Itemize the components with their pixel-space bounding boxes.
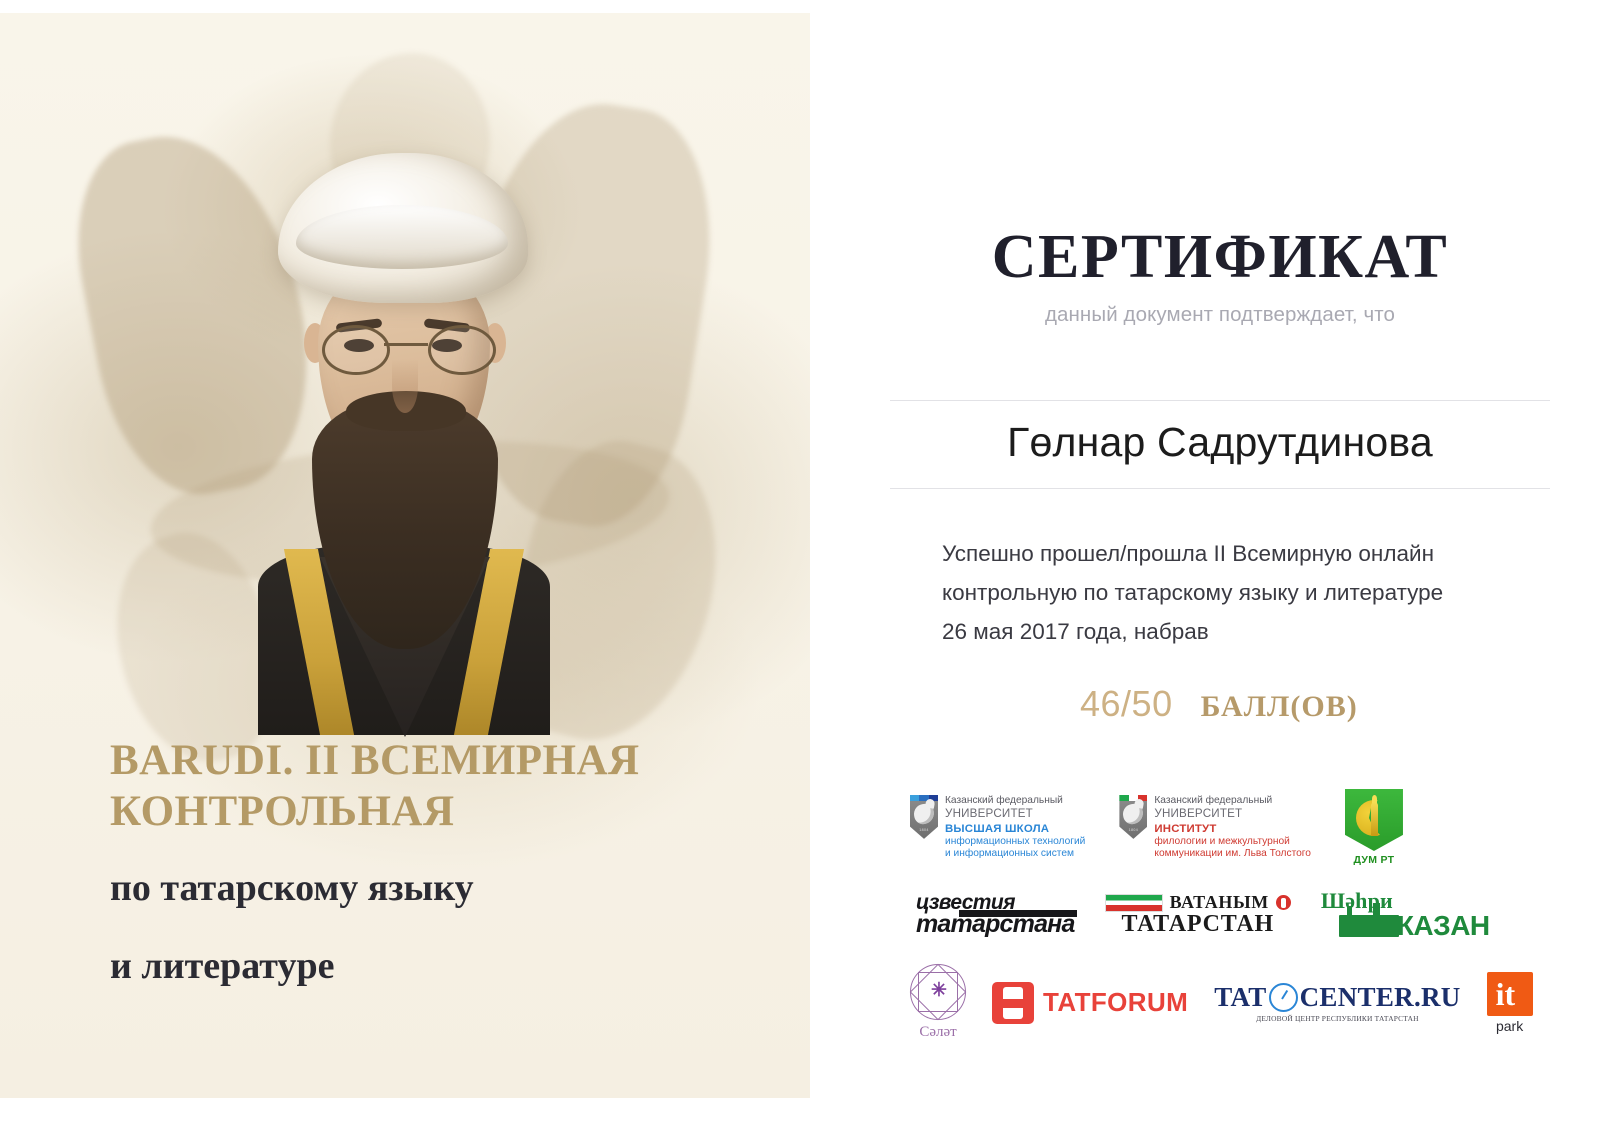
- recipient-name: Гөлнар Садрутдинова: [890, 419, 1550, 466]
- tatforum-mark-icon: [992, 982, 1034, 1024]
- recipient-name-box: Гөлнар Садрутдинова: [890, 400, 1550, 489]
- kfu-year: 1804: [910, 828, 938, 832]
- poster-title-line1: BARUDI. II ВСЕМИРНАЯ: [110, 735, 770, 786]
- logo-row-3: ✳ Сәләт TATFORUM TAT CENTER.RU ДЕЛОВ: [910, 964, 1530, 1041]
- salat-label: Сәләт: [919, 1024, 956, 1041]
- body-line-1: Успешно прошел/прошла II Всемирную онлай…: [942, 534, 1550, 573]
- logo-kfu-vshitis: 1804 Казанский федеральный УНИВЕРСИТЕТ В…: [910, 795, 1085, 860]
- logo-izvestiya-tatarstana: цзвестия татарстана: [916, 891, 1075, 939]
- certificate-panel: СЕРТИФИКАТ данный документ подтверждает,…: [810, 0, 1600, 1131]
- kfu-line4: информационных технологий: [945, 836, 1085, 848]
- kfu-shield-icon: 1804: [1119, 795, 1147, 839]
- body-line-3: 26 мая 2017 года, набрав: [942, 612, 1550, 651]
- logo-tatforum: TATFORUM: [992, 982, 1188, 1024]
- it-park-label: park: [1496, 1018, 1523, 1034]
- turban-shape: [278, 153, 528, 303]
- zilant-dragon-icon: [913, 803, 936, 826]
- score-value: 46/50: [1080, 683, 1173, 725]
- kremlin-icon: [1339, 915, 1399, 937]
- logo-it-park: it park: [1487, 972, 1533, 1034]
- poster-title-block: BARUDI. II ВСЕМИРНАЯ КОНТРОЛЬНАЯ по тата…: [110, 735, 770, 993]
- tatcenter-tagline: ДЕЛОВОЙ ЦЕНТР РЕСПУБЛИКИ ТАТАРСТАН: [1256, 1014, 1419, 1023]
- certificate-page: BARUDI. II ВСЕМИРНАЯ КОНТРОЛЬНАЯ по тата…: [0, 0, 1600, 1131]
- tatarstan-flag-icon: [1105, 894, 1163, 912]
- lens-left: [322, 325, 390, 375]
- kfu-line4: филологии и межкультурной: [1154, 836, 1311, 848]
- it-park-mark-text: it: [1496, 972, 1516, 1016]
- kfu-line3: ВЫСШАЯ ШКОЛА: [945, 823, 1085, 836]
- kfu-line2: УНИВЕРСИТЕТ: [945, 807, 1085, 821]
- certificate-title: СЕРТИФИКАТ: [890, 222, 1550, 293]
- logo-dum-rt: ДУМ РТ: [1345, 789, 1403, 866]
- star-octagram-icon: ✳: [910, 964, 966, 1020]
- shahri-word2: КАЗАН: [1397, 910, 1490, 942]
- certificate-subtitle: данный документ подтверждает, что: [890, 303, 1550, 327]
- tatcenter-word1: TAT: [1214, 982, 1266, 1013]
- dum-rt-label: ДУМ РТ: [1354, 854, 1395, 866]
- kfu-line5: и информационных систем: [945, 848, 1085, 860]
- kfu-line1: Казанский федеральный: [945, 795, 1085, 807]
- glasses-bridge: [384, 343, 428, 346]
- vatanym-word2: ТАТАРСТАН: [1121, 911, 1273, 938]
- kfu-line3: ИНСТИТУТ: [1154, 823, 1311, 836]
- event-poster: BARUDI. II ВСЕМИРНАЯ КОНТРОЛЬНАЯ по тата…: [0, 13, 810, 1098]
- crescent-minaret-icon: [1345, 789, 1403, 851]
- vatanym-emblem-icon: [1276, 895, 1291, 910]
- lens-right: [428, 325, 496, 375]
- kfu-line1: Казанский федеральный: [1154, 795, 1311, 807]
- tatforum-label: TATFORUM: [1043, 987, 1188, 1018]
- poster-title-line2: КОНТРОЛЬНАЯ: [110, 786, 770, 837]
- tatcenter-word2: CENTER.RU: [1300, 982, 1461, 1013]
- logo-row-1: 1804 Казанский федеральный УНИВЕРСИТЕТ В…: [910, 789, 1530, 866]
- glasses-icon: [322, 325, 490, 369]
- izvestiya-rule: [959, 910, 1077, 917]
- sponsor-logos: 1804 Казанский федеральный УНИВЕРСИТЕТ В…: [910, 789, 1530, 1041]
- vatanym-word1: ВАТАНЫМ: [1170, 892, 1269, 913]
- portrait-illustration: [200, 153, 610, 733]
- poster-subtitle-line2: и литературе: [110, 939, 770, 993]
- logo-vatanym-tatarstan: ВАТАНЫМ ТАТАРСТАН: [1105, 892, 1291, 938]
- logo-kfu-ifmk: 1804 Казанский федеральный УНИВЕРСИТЕТ И…: [1119, 795, 1311, 860]
- clock-icon: [1269, 983, 1298, 1012]
- zilant-dragon-icon: [1122, 803, 1145, 826]
- logo-shahri-kazan: Шәһри КАЗАН: [1321, 888, 1490, 942]
- kfu-shield-icon: 1804: [910, 795, 938, 839]
- kfu-line5: коммуникации им. Льва Толстого: [1154, 848, 1311, 860]
- poster-subtitle-line1: по татарскому языку: [110, 861, 770, 915]
- kfu-line2: УНИВЕРСИТЕТ: [1154, 807, 1311, 821]
- certificate-body: Успешно прошел/прошла II Всемирную онлай…: [942, 534, 1550, 651]
- kfu-year: 1804: [1119, 828, 1147, 832]
- body-line-2: контрольную по татарскому языку и литера…: [942, 573, 1550, 612]
- it-park-mark-icon: it: [1487, 972, 1533, 1016]
- logo-tatcenter: TAT CENTER.RU ДЕЛОВОЙ ЦЕНТР РЕСПУБЛИКИ Т…: [1214, 982, 1460, 1023]
- logo-salat: ✳ Сәләт: [910, 964, 966, 1041]
- score-row: 46/50 БАЛЛ(ОВ): [1080, 683, 1550, 725]
- score-label: БАЛЛ(ОВ): [1201, 690, 1358, 724]
- logo-row-2: цзвестия татарстана ВАТАНЫМ ТАТАРСТАН: [916, 888, 1530, 942]
